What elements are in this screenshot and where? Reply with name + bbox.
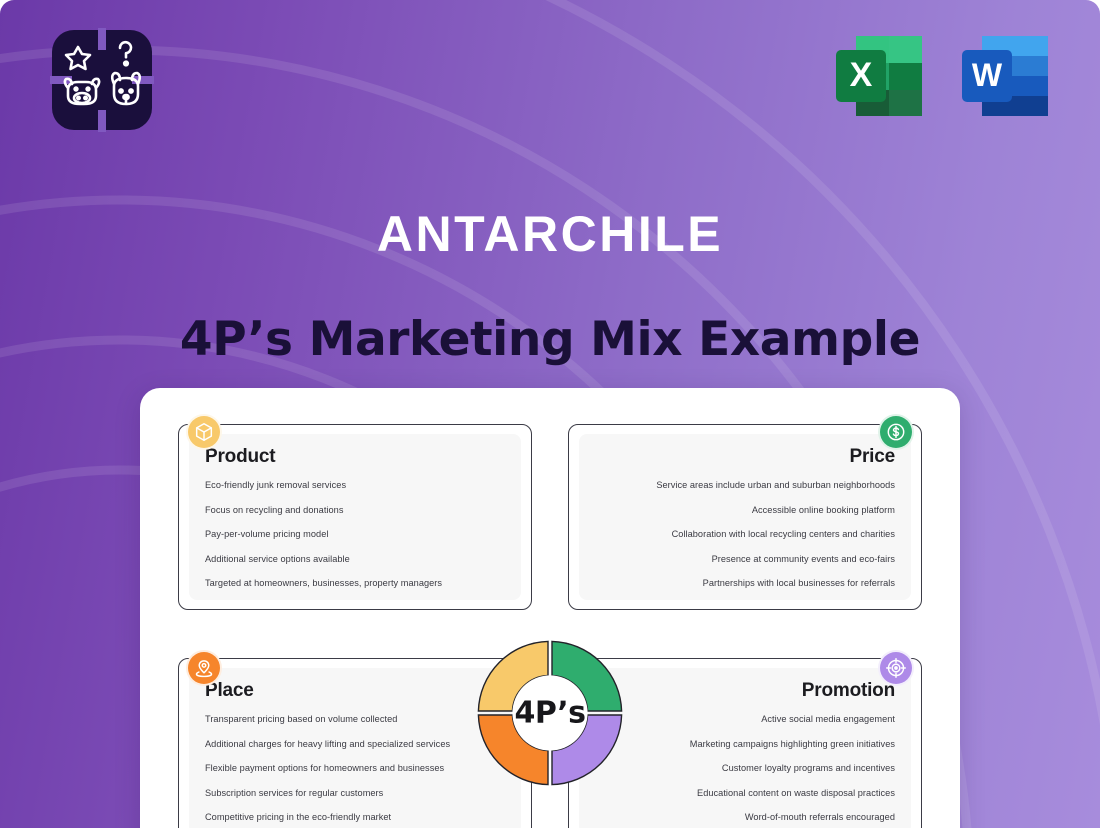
marketing-mix-card: Product Eco-friendly junk removal servic… [140, 388, 960, 828]
page-title: 4P’s Marketing Mix Example [0, 312, 1100, 367]
dollar-coin-icon [878, 414, 914, 450]
quadrant-product-panel: Product Eco-friendly junk removal servic… [189, 434, 521, 600]
list-item: Eco-friendly junk removal services [205, 480, 442, 492]
list-item: Marketing campaigns highlighting green i… [690, 739, 895, 751]
list-item: Pay-per-volume pricing model [205, 529, 442, 541]
list-item: Focus on recycling and donations [205, 505, 442, 517]
list-item: Accessible online booking platform [656, 505, 895, 517]
quadrant-place-list: Transparent pricing based on volume coll… [205, 714, 450, 828]
quadrant-price-panel: Price Service areas include urban and su… [579, 434, 911, 600]
list-item: Targeted at homeowners, businesses, prop… [205, 578, 442, 590]
list-item: Customer loyalty programs and incentives [690, 763, 895, 775]
quadrant-price-list: Service areas include urban and suburban… [656, 480, 895, 603]
list-item: Service areas include urban and suburban… [656, 480, 895, 492]
quadrant-promotion-title: Promotion [802, 680, 895, 702]
quadrant-product-title: Product [205, 446, 275, 468]
quadrant-product[interactable]: Product Eco-friendly junk removal servic… [178, 424, 532, 610]
list-item: Transparent pricing based on volume coll… [205, 714, 450, 726]
brand-logo [50, 28, 154, 132]
quadrant-promotion-list: Active social media engagement Marketing… [690, 714, 895, 828]
svg-text:W: W [972, 57, 1003, 93]
word-icon: W [956, 28, 1056, 124]
list-item: Additional charges for heavy lifting and… [205, 739, 450, 751]
list-item: Active social media engagement [690, 714, 895, 726]
quadrant-price-title: Price [850, 446, 895, 468]
package-box-icon [186, 414, 222, 450]
brand-title: ANTARCHILE [0, 205, 1100, 263]
target-crosshair-icon [878, 650, 914, 686]
svg-text:X: X [850, 56, 873, 94]
location-pin-icon [186, 650, 222, 686]
list-item: Educational content on waste disposal pr… [690, 788, 895, 800]
quadrant-price[interactable]: Price Service areas include urban and su… [568, 424, 922, 610]
list-item: Word-of-mouth referrals encouraged [690, 812, 895, 824]
office-file-icons: X W [830, 28, 1056, 124]
slide-canvas: X W ANTARCHILE 4P’s Marketing Mix Exampl… [0, 0, 1100, 828]
quadrant-product-list: Eco-friendly junk removal services Focus… [205, 480, 442, 603]
four-p-donut-chart: 4P’s [470, 633, 630, 793]
list-item: Competitive pricing in the eco-friendly … [205, 812, 450, 824]
list-item: Additional service options available [205, 554, 442, 566]
excel-icon: X [830, 28, 930, 124]
list-item: Collaboration with local recycling cente… [656, 529, 895, 541]
list-item: Presence at community events and eco-fai… [656, 554, 895, 566]
list-item: Partnerships with local businesses for r… [656, 578, 895, 590]
list-item: Flexible payment options for homeowners … [205, 763, 450, 775]
list-item: Subscription services for regular custom… [205, 788, 450, 800]
